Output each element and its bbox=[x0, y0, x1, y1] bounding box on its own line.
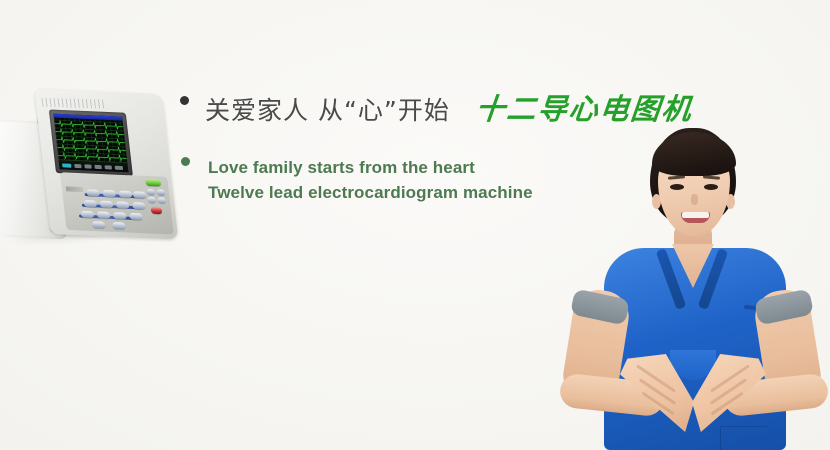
device-logo bbox=[66, 186, 84, 192]
screen-status-chip bbox=[104, 165, 112, 169]
screen-status-chip bbox=[84, 164, 92, 168]
nurse-pocket bbox=[720, 426, 767, 450]
device-key bbox=[92, 221, 106, 229]
device-key bbox=[129, 213, 143, 221]
headline-row: 关爱家人 从“心”开始 十二导心电图机 bbox=[205, 86, 693, 128]
nurse-mouth bbox=[681, 212, 710, 223]
device-key bbox=[83, 200, 97, 208]
subheadline: Love family starts from the heart Twelve… bbox=[208, 155, 533, 205]
screen-status-bar bbox=[59, 159, 129, 172]
device-key bbox=[102, 190, 116, 198]
device-start-key bbox=[145, 179, 161, 187]
nurse-eye-left bbox=[670, 184, 684, 190]
device-key bbox=[86, 189, 100, 197]
promo-banner: 关爱家人 从“心”开始 十二导心电图机 Love family starts f… bbox=[0, 0, 830, 450]
device-key bbox=[118, 191, 132, 199]
device-nav-key bbox=[157, 197, 166, 203]
device-key bbox=[132, 202, 146, 210]
nurse-photo bbox=[548, 128, 830, 450]
page-title: 关爱家人 从“心”开始 bbox=[205, 91, 450, 127]
nurse-eye-right bbox=[704, 184, 718, 190]
device-screen bbox=[53, 114, 128, 173]
device-vent-slots bbox=[41, 98, 105, 109]
device-key bbox=[116, 201, 130, 209]
device-nav-key bbox=[157, 189, 166, 195]
subheadline-line-1: Love family starts from the heart bbox=[208, 155, 533, 180]
device-key bbox=[112, 222, 126, 230]
screen-status-chip bbox=[62, 163, 72, 167]
device-key bbox=[133, 191, 147, 199]
device-key bbox=[99, 201, 113, 209]
bullet-point-primary bbox=[180, 96, 189, 105]
subheadline-line-2: Twelve lead electrocardiogram machine bbox=[208, 180, 533, 205]
screen-status-chip bbox=[74, 164, 82, 168]
ecg-machine-image bbox=[0, 82, 180, 259]
device-keypad bbox=[60, 172, 174, 234]
device-key bbox=[97, 211, 111, 219]
nurse-nose bbox=[691, 194, 698, 205]
device-nav-key bbox=[146, 189, 155, 195]
device-screen-bezel bbox=[49, 109, 133, 176]
nurse-teeth bbox=[682, 212, 709, 218]
device-key bbox=[80, 211, 94, 219]
screen-status-chip bbox=[115, 166, 124, 170]
device-stop-key bbox=[150, 207, 162, 214]
device-nav-key bbox=[147, 197, 156, 203]
product-name: 十二导心电图机 bbox=[474, 86, 695, 128]
screen-status-chip bbox=[94, 165, 102, 169]
bullet-point-secondary bbox=[181, 157, 190, 166]
device-key bbox=[113, 212, 127, 220]
